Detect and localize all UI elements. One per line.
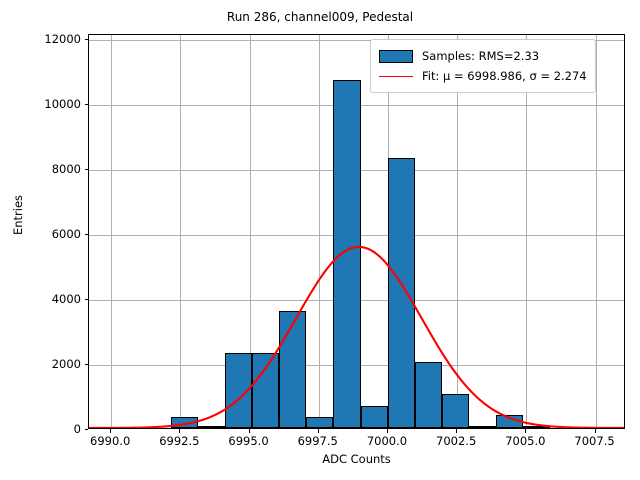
x-tick-label: 6992.5 — [139, 434, 219, 448]
x-tick-label: 7005.0 — [485, 434, 565, 448]
y-tick-mark — [85, 429, 89, 430]
x-tick-mark — [456, 429, 457, 433]
legend-line-icon — [379, 70, 413, 83]
x-tick-label: 6995.0 — [209, 434, 289, 448]
histogram-bar — [496, 415, 523, 428]
gridline-vertical — [111, 35, 112, 428]
y-tick-label: 8000 — [7, 162, 81, 176]
histogram-bar — [306, 417, 333, 428]
histogram-bar — [442, 394, 469, 428]
x-tick-label: 7002.5 — [416, 434, 496, 448]
histogram-bar — [388, 158, 415, 428]
legend-entry-fit: Fit: μ = 6998.986, σ = 2.274 — [379, 66, 587, 86]
chart-legend: Samples: RMS=2.33 Fit: μ = 6998.986, σ =… — [370, 39, 596, 93]
x-tick-mark — [595, 429, 596, 433]
histogram-bar — [198, 426, 225, 428]
x-axis-label: ADC Counts — [88, 452, 625, 466]
y-tick-label: 2000 — [7, 357, 81, 371]
histogram-bar — [171, 417, 198, 428]
legend-label-samples: Samples: RMS=2.33 — [422, 49, 539, 63]
x-tick-mark — [525, 429, 526, 433]
y-axis-label: Entries — [11, 135, 25, 295]
gridline-vertical — [319, 35, 320, 428]
x-tick-label: 6997.5 — [278, 434, 358, 448]
x-tick-mark — [110, 429, 111, 433]
figure-canvas: Run 286, channel009, Pedestal Entries AD… — [0, 0, 640, 480]
histogram-bar — [279, 311, 306, 428]
histogram-bar — [523, 426, 550, 428]
histogram-bar — [469, 426, 496, 428]
plot-area — [88, 34, 625, 429]
histogram-bar — [361, 406, 388, 428]
y-tick-label: 12000 — [7, 32, 81, 46]
legend-patch-icon — [379, 50, 413, 63]
histogram-bar — [225, 353, 252, 428]
x-tick-label: 6990.0 — [70, 434, 150, 448]
y-tick-label: 10000 — [7, 97, 81, 111]
y-tick-label: 6000 — [7, 227, 81, 241]
gridline-vertical — [457, 35, 458, 428]
x-tick-label: 7000.0 — [347, 434, 427, 448]
x-tick-mark — [249, 429, 250, 433]
legend-entry-samples: Samples: RMS=2.33 — [379, 46, 587, 66]
x-tick-mark — [318, 429, 319, 433]
histogram-bar — [415, 362, 442, 428]
gridline-vertical — [526, 35, 527, 428]
gridline-vertical — [596, 35, 597, 428]
chart-title: Run 286, channel009, Pedestal — [0, 10, 640, 24]
histogram-bar — [333, 80, 360, 428]
histogram-bar — [252, 353, 279, 428]
x-tick-label: 7007.5 — [555, 434, 635, 448]
x-tick-mark — [387, 429, 388, 433]
y-tick-label: 4000 — [7, 292, 81, 306]
legend-label-fit: Fit: μ = 6998.986, σ = 2.274 — [422, 69, 587, 83]
gridline-vertical — [180, 35, 181, 428]
x-tick-mark — [179, 429, 180, 433]
